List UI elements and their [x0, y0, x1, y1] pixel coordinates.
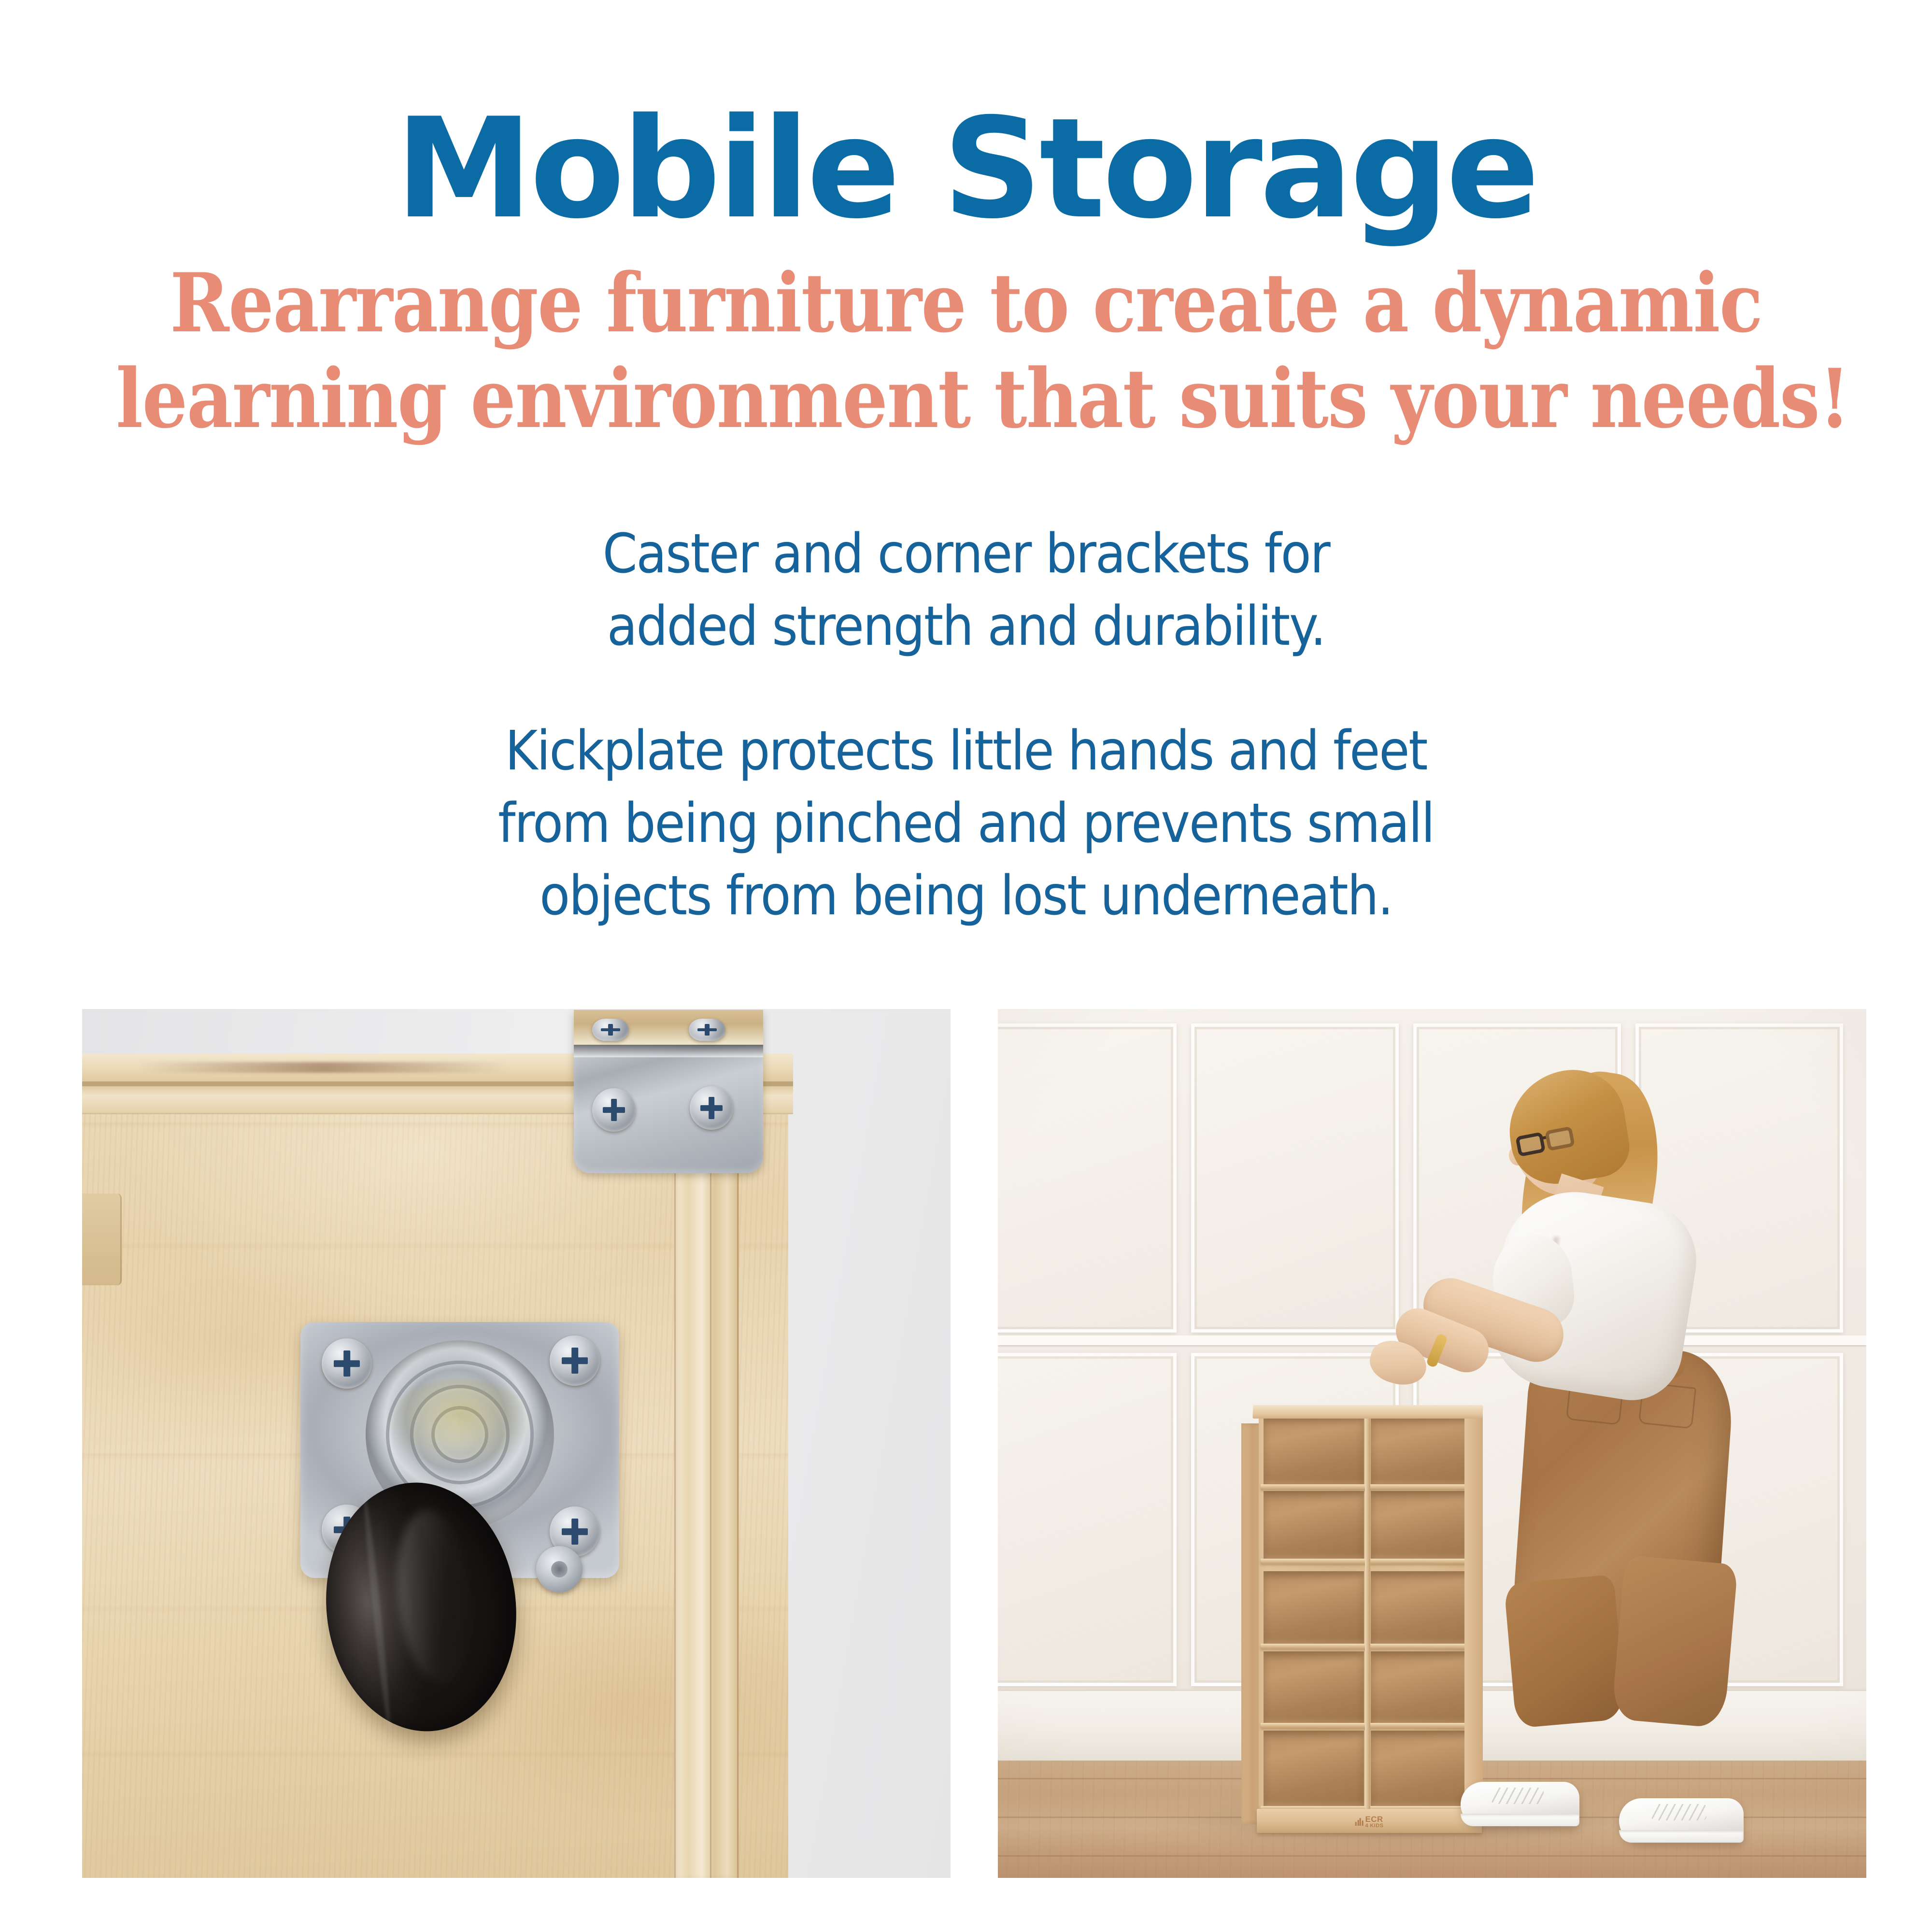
leg-front: [1504, 1575, 1626, 1729]
bracket-fold-line: [574, 1045, 763, 1057]
ecr4kids-logo: ECR 4 KIDS: [1355, 1816, 1384, 1828]
text-block: Mobile Storage Rearrange furniture to cr…: [0, 0, 1932, 932]
paragraph-2-line-2: from being pinched and prevents small: [77, 787, 1855, 860]
bracket-screw-bottom-right-icon: [690, 1086, 733, 1130]
cabinet-right-side-panel: [1464, 1414, 1483, 1822]
sneaker-right: [1619, 1798, 1744, 1843]
woman-pushing-cabinet-photo: ECR 4 KIDS: [998, 1009, 1866, 1878]
sneaker-left: [1461, 1782, 1579, 1826]
cubby-r3-c2: [1371, 1571, 1473, 1644]
cubby-r4-c1: [1264, 1651, 1364, 1723]
bracket-screw-top-right-icon: [689, 1019, 725, 1041]
feature-paragraph-kickplate: Kickplate protects little hands and feet…: [77, 715, 1855, 932]
cabinet-top-surface: [1252, 1405, 1483, 1419]
cabinet-left-side-panel: [1241, 1423, 1261, 1824]
wheel-highlight: [389, 1506, 480, 1687]
corner-bracket: [574, 1010, 763, 1173]
cubby-r5-c1: [1264, 1731, 1364, 1806]
leg-back: [1611, 1555, 1738, 1728]
sneaker-sole-left: [1461, 1814, 1579, 1826]
bracket-screw-bottom-left-icon: [592, 1088, 636, 1132]
paragraph-2-line-1: Kickplate protects little hands and feet: [77, 715, 1855, 787]
cubby-r2-c1: [1264, 1491, 1364, 1559]
cubby-r2-c2: [1371, 1491, 1473, 1559]
cabinet-center-divider: [1365, 1415, 1370, 1810]
cubby-r4-c2: [1371, 1651, 1473, 1723]
marketing-infographic-page: Mobile Storage Rearrange furniture to cr…: [0, 0, 1932, 1932]
sneaker-laces-right: [1651, 1804, 1706, 1820]
caster-screw-top-left-icon: [322, 1338, 372, 1389]
caster-bracket-photo: [82, 1009, 951, 1878]
cabinet-body: [1259, 1412, 1479, 1820]
caster-axle-cap-right: [536, 1546, 582, 1592]
page-title: Mobile Storage: [0, 97, 1932, 241]
logo-line-2: 4 KIDS: [1365, 1823, 1383, 1828]
sneaker-laces-left: [1492, 1788, 1544, 1804]
top-rail-shadow: [140, 1062, 507, 1073]
floor-seam-3: [998, 1855, 1866, 1857]
logo-figures-icon: [1355, 1818, 1364, 1826]
paragraph-1-line-1: Caster and corner brackets for: [77, 518, 1855, 590]
bracket-screw-top-left-icon: [592, 1019, 629, 1041]
paragraph-2-line-3: objects from being lost underneath.: [77, 860, 1855, 932]
subtitle-line-2: learning environment that suits your nee…: [116, 351, 1816, 446]
wood-cleat: [82, 1193, 122, 1285]
photo-row: ECR 4 KIDS: [82, 1009, 1866, 1878]
wall-panel-lower-1: [998, 1353, 1177, 1686]
logo-wordmark: ECR 4 KIDS: [1365, 1816, 1383, 1828]
feature-paragraph-caster-brackets: Caster and corner brackets for added str…: [77, 518, 1855, 663]
cubby-r3-c1: [1264, 1571, 1364, 1644]
cabinet-kickplate: ECR 4 KIDS: [1257, 1809, 1482, 1833]
cubby-r5-c2: [1371, 1731, 1473, 1806]
caster-screw-top-right-icon: [550, 1335, 600, 1386]
wall-panel-upper-1: [998, 1023, 1177, 1333]
sneaker-sole-right: [1619, 1830, 1744, 1843]
mobile-cubby-cabinet: ECR 4 KIDS: [1241, 1405, 1481, 1832]
logo-line-1: ECR: [1365, 1816, 1383, 1823]
wall-panel-upper-2: [1191, 1023, 1399, 1333]
paragraph-1-line-2: added strength and durability.: [77, 590, 1855, 663]
zinc-plating-tint: [387, 1378, 532, 1470]
cubby-r1-c1: [1264, 1417, 1364, 1484]
subtitle: Rearrange furniture to create a dynamic …: [116, 255, 1816, 446]
subtitle-line-1: Rearrange furniture to create a dynamic: [116, 255, 1816, 351]
cubby-r1-c2: [1371, 1417, 1473, 1484]
wheel-center-band: [361, 1494, 393, 1729]
